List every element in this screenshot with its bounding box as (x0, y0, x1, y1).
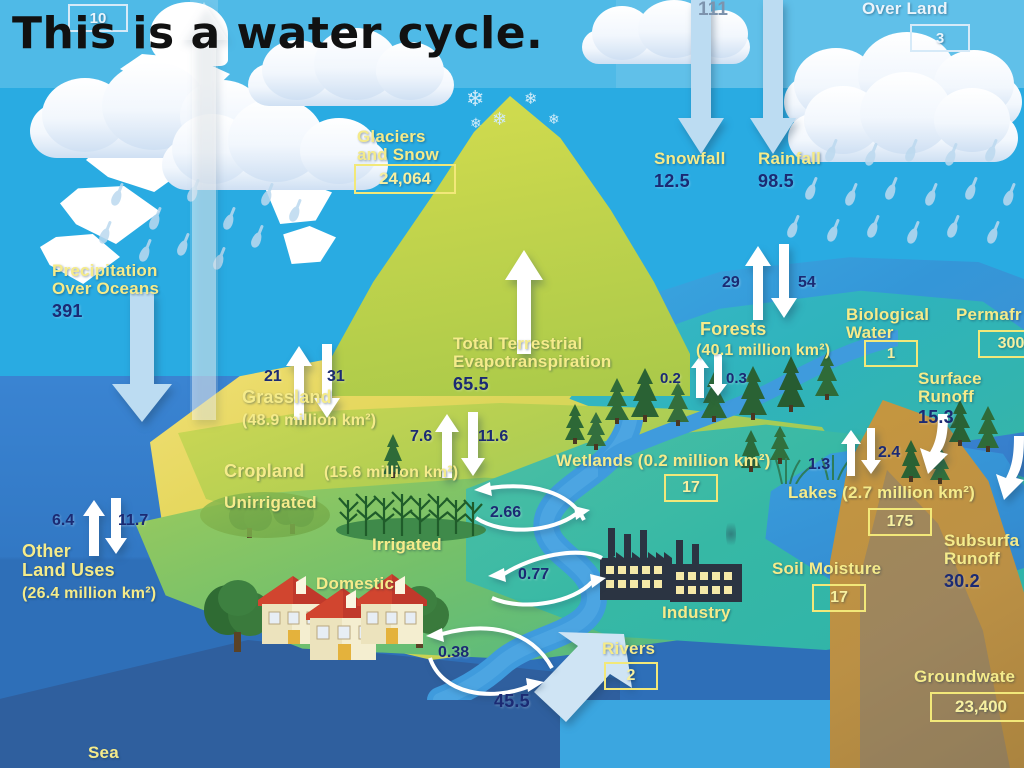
cropland-up-value: 7.6 (410, 428, 432, 446)
snowfall-label: Snowfall (654, 150, 726, 168)
badge-soil-moisture-value: 17 (812, 584, 866, 612)
curve-irrigation-flow (460, 480, 590, 536)
groundwater-label: Groundwate (914, 668, 1015, 686)
river-discharge-value: 45.5 (494, 692, 530, 711)
flow-domestic-value: 0.38 (438, 644, 469, 662)
other-land-down-value: 11.7 (118, 512, 148, 530)
factory-smoke (726, 518, 736, 550)
arrow-rainfall (748, 0, 798, 156)
arrow-snowfall (676, 0, 726, 156)
cropland-area: (15.6 million km²) (324, 464, 458, 481)
surface-runoff-value: 15.3 (918, 408, 954, 427)
subsurface-runoff-label: Subsurfa Runoff (944, 532, 1019, 569)
rainfall-value: 98.5 (758, 172, 794, 191)
wetlands-up-value: 0.2 (660, 370, 681, 387)
badge-groundwater-value: 23,400 (930, 692, 1024, 722)
domestic-label: Domestic (316, 575, 394, 593)
total-evapotranspiration-value: 65.5 (453, 375, 489, 394)
snowfall-value: 12.5 (654, 172, 690, 191)
total-evapotranspiration-label: Total Terrestrial Evapotranspiration (453, 335, 612, 372)
grassland-up-value: 21 (264, 368, 282, 386)
forests-down-value: 54 (798, 274, 816, 292)
grassland-label: Grassland (242, 388, 332, 407)
lakes-down-value: 2.4 (878, 444, 900, 462)
badge-biological-water-value: 1 (864, 340, 918, 367)
irrigated-label: Irrigated (372, 536, 442, 554)
arrow-precipitation-over-oceans (110, 292, 174, 424)
arrow-ocean-evaporation-column (178, 0, 230, 420)
flow-irrigation-value: 2.66 (490, 504, 521, 522)
wetlands-label: Wetlands (0.2 million km²) (556, 452, 771, 470)
forests-area: (40.1 million km²) (696, 342, 830, 359)
center-flux-value: 111 (698, 0, 728, 21)
cropland-down-value: 11.6 (478, 428, 508, 446)
badge-over-land-value: 3 (910, 24, 970, 52)
lakes-label: Lakes (2.7 million km²) (788, 484, 975, 502)
forests-label: Forests (700, 320, 766, 339)
arrow-subsurface-runoff (988, 436, 1024, 502)
arrow-lakes-up (840, 428, 862, 476)
water-cycle-infographic: ❄ ❄ ❄ ❄ ❄ (0, 0, 1024, 768)
wetlands-down-value: 0.3 (726, 370, 747, 387)
over-land-label: Over Land (862, 0, 948, 18)
badge-rivers-value: 2 (604, 662, 658, 690)
permafrost-label: Permafr (956, 306, 1022, 324)
flow-industry-value: 0.77 (518, 566, 549, 584)
other-land-up-value: 6.4 (52, 512, 74, 530)
cloud-right-2 (788, 72, 1020, 164)
biological-water-label: Biological Water (846, 306, 929, 343)
glaciers-label: Glaciers and Snow (357, 128, 439, 165)
arrow-grassland-up (285, 344, 313, 420)
slide-title: This is a water cycle. (12, 8, 543, 59)
rainfall-label: Rainfall (758, 150, 821, 168)
badge-wetlands-value: 17 (664, 474, 718, 502)
precipitation-over-oceans-label: Precipitation Over Oceans (52, 262, 159, 299)
badge-permafrost-value: 300 (978, 330, 1024, 358)
badge-lakes-value: 175 (868, 508, 932, 536)
industry-label: Industry (662, 604, 731, 622)
arrow-wetlands-up (690, 354, 710, 398)
forests-up-value: 29 (722, 274, 740, 292)
cropland-label: Cropland (224, 462, 305, 481)
rivers-label: Rivers (602, 640, 655, 658)
arrow-forests-down (770, 244, 798, 320)
subsurface-runoff-value: 30.2 (944, 572, 980, 591)
surface-runoff-label: Surface Runoff (918, 370, 982, 407)
other-land-uses-area: (26.4 million km²) (22, 585, 156, 602)
grassland-area: (48.9 million km²) (242, 412, 376, 429)
soil-moisture-label: Soil Moisture (772, 560, 881, 578)
unirrigated-label: Unirrigated (224, 494, 317, 512)
arrow-wetlands-down (708, 354, 728, 398)
sea-label: Sea (88, 744, 119, 762)
lakes-up-value: 1.3 (808, 456, 830, 474)
grassland-down-value: 31 (327, 368, 345, 386)
arrow-forests-up (744, 244, 772, 320)
other-land-uses-label: Other Land Uses (22, 542, 115, 581)
badge-glaciers-value: 24,064 (354, 164, 456, 194)
precipitation-over-oceans-value: 391 (52, 302, 83, 321)
